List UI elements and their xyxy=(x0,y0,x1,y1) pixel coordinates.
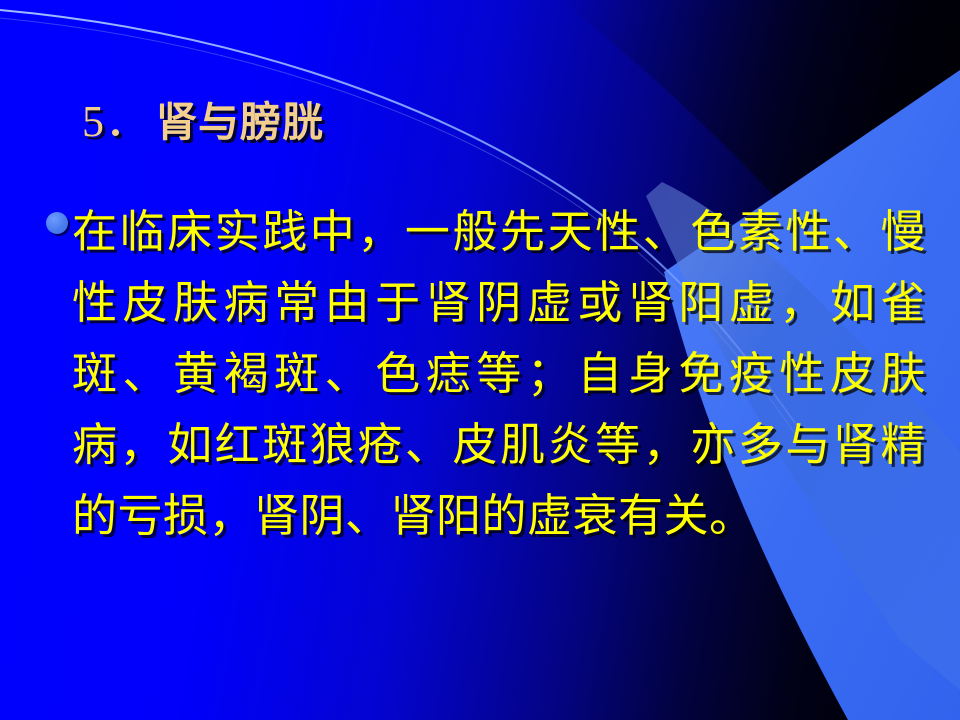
slide-title-text: 肾与膀胱 xyxy=(156,98,324,146)
bullet-list-item: 在临床实践中，一般先天性、色素性、慢性皮肤病常由于肾阴虚或肾阳虚，如雀斑、黄褐斑… xyxy=(46,196,926,551)
slide-body: 在临床实践中，一般先天性、色素性、慢性皮肤病常由于肾阴虚或肾阳虚，如雀斑、黄褐斑… xyxy=(46,196,926,551)
bullet-item-text: 在临床实践中，一般先天性、色素性、慢性皮肤病常由于肾阴虚或肾阳虚，如雀斑、黄褐斑… xyxy=(72,196,926,551)
bullet-dot-icon xyxy=(46,212,68,234)
slide-title-number: 5． xyxy=(82,97,150,146)
slide-title: 5．肾与膀胱 xyxy=(82,99,324,145)
presentation-slide: 5．肾与膀胱 在临床实践中，一般先天性、色素性、慢性皮肤病常由于肾阴虚或肾阳虚，… xyxy=(0,0,960,720)
